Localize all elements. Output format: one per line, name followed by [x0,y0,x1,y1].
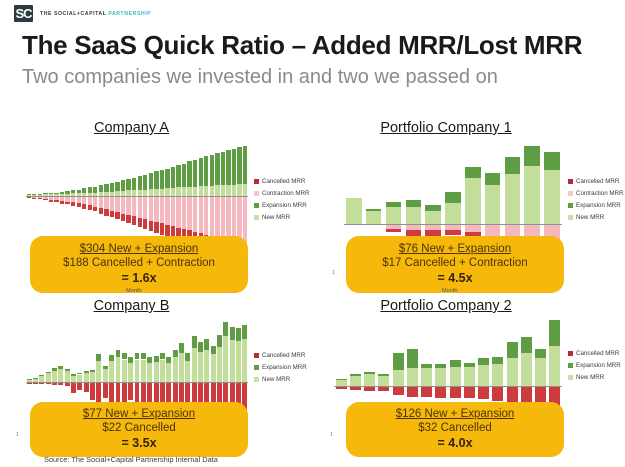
bar-segment [116,382,121,402]
callout-line-1: $77 New + Expansion [83,407,195,421]
bar-segment [43,193,47,194]
legend-item-contraction: Contraction MRR [254,190,309,197]
legend-label-new: New MRR [262,214,290,221]
legend-label-new: New MRR [262,376,290,383]
bar-segment [33,378,38,379]
bar-segment [199,186,203,196]
bar-segment [65,191,69,194]
bar-segment [544,152,559,169]
bar-segment [185,353,190,361]
callout-ratio: = 4.5x [437,270,472,286]
bar-segment [84,371,89,373]
bar-segment [93,207,97,212]
bar-segment [141,360,146,383]
bar-segment [71,202,75,206]
bar-segment [524,146,539,166]
bar-segment [77,190,81,194]
bar-segment [54,193,58,195]
bar-segment [160,170,164,188]
bar-segment [187,187,191,196]
bar-segment [104,196,108,209]
bar-segment [121,196,125,214]
bar-segment [435,386,446,398]
bar-segment [445,203,460,224]
bar-segment [198,352,203,382]
legend-swatch-contraction-icon [568,191,573,196]
chart-title: Portfolio Company 1 [330,120,562,136]
bar-segment [165,225,169,237]
bar-segment [160,223,164,234]
bar-segment [173,357,178,382]
bar-segment [99,185,103,192]
callout-box: $77 New + Expansion $22 Cancelled = 3.5x [30,402,248,457]
legend-label-cancelled: Cancelled MRR [262,352,305,359]
bar-segment [109,355,114,360]
bar-segment [103,382,108,398]
x-axis-line [26,196,248,197]
legend-label-expansion: Expansion MRR [262,364,307,371]
bar-segment [65,369,70,371]
bar-segment [93,187,97,193]
legend-label-cancelled: Cancelled MRR [576,178,619,185]
bar-segment [243,146,247,184]
chart-legend: Cancelled MRR Expansion MRR New MRR [568,350,621,381]
bar-segment [149,173,153,189]
bar-segment [204,350,209,382]
callout-ratio: = 1.6x [121,270,156,286]
bar-segment [393,370,404,387]
bar-segment [217,335,222,347]
bar-segment [160,189,164,196]
bar-segment [135,360,140,383]
bar-segment [350,374,361,376]
bar-segment [128,357,133,362]
bar-segment [126,215,130,223]
bar-segment [204,339,209,350]
bar-segment [149,189,153,196]
bar-segment [223,336,228,382]
bar-segment [485,185,500,224]
bar-segment [147,382,152,403]
bar-segment [147,357,152,362]
bar-segment [71,382,76,393]
bar-segment [90,370,95,372]
legend-swatch-expansion-icon [254,365,259,370]
bar-segment [193,187,197,196]
legend-swatch-new-icon [568,375,573,380]
bar-segment [160,360,165,383]
bar-segment [122,360,127,383]
legend-item-expansion: Expansion MRR [568,202,623,209]
bar-segment [138,176,142,190]
bar-segment [204,196,208,235]
bar-segment [230,327,235,340]
bar-segment [179,353,184,382]
bar-segment [103,369,108,382]
bar-segment [88,205,92,210]
legend-label-new: New MRR [576,214,604,221]
chart-legend: Cancelled MRR Expansion MRR New MRR [254,352,307,383]
bar-segment [77,203,81,207]
chart-legend: Cancelled MRR Contraction MRR Expansion … [568,178,623,221]
legend-item-cancelled: Cancelled MRR [254,178,309,185]
bar-segment [65,202,69,205]
bar-segment [232,185,236,196]
bar-segment [60,192,64,194]
bar-segment [236,341,241,382]
y-axis-tick: 1 [330,432,333,438]
bar-segment [96,361,101,382]
bar-segment [52,371,57,382]
bar-segment [71,374,76,376]
legend-swatch-new-icon [568,215,573,220]
bar-segment [242,339,247,382]
bar-segment [215,185,219,196]
bar-segment [77,373,82,375]
legend-swatch-expansion-icon [568,363,573,368]
bar-segment [198,342,203,352]
chart-panel-portfolio-company-2: Portfolio Company 2 Cancelled MRR Expans… [330,298,625,458]
bar-segment [406,200,421,208]
bar-segment [478,386,489,399]
bar-segment [65,371,70,382]
bar-segment [243,196,247,244]
bar-segment [445,230,460,235]
bar-segment [104,209,108,215]
legend-label-contraction: Contraction MRR [576,190,623,197]
bar-segment [492,386,503,401]
bar-segment [27,197,31,198]
bar-segment [199,158,203,186]
bar-segment [96,382,101,402]
callout-box: $126 New + Expansion $32 Cancelled = 4.0… [346,402,564,457]
bar-segment [464,367,475,387]
bar-segment [507,386,518,402]
bar-segment [132,178,136,190]
bar-segment [192,382,197,402]
bar-segment [121,214,125,222]
bar-segment [221,196,225,239]
bar-segment [176,165,180,188]
bar-segment [478,358,489,366]
callout-line-1: $126 New + Expansion [396,407,515,421]
bar-segment [32,198,36,199]
bar-segment [82,188,86,193]
brand-logo: SC THE SOCIAL+CAPITAL PARTNERSHIP [14,5,151,22]
bar-segment [132,216,136,224]
bar-segment [77,382,82,390]
bar-segment [450,386,461,398]
bar-segment [445,192,460,203]
bar-segment [237,184,241,196]
bar-column [334,318,348,420]
bar-segment [90,382,95,400]
legend-label-cancelled: Cancelled MRR [576,350,619,357]
logo-wordmark-dark: THE SOCIAL+CAPITAL [40,11,106,17]
bar-segment [149,196,153,221]
legend-label-expansion: Expansion MRR [576,202,621,209]
x-axis-line [334,386,562,387]
bar-segment [147,363,152,382]
bar-segment [204,156,208,186]
bar-segment [421,386,432,397]
bar-segment [104,184,108,192]
bar-segment [171,167,175,188]
chart-title: Company A [14,120,249,136]
bar-segment [185,361,190,382]
legend-swatch-contraction-icon [254,191,259,196]
bar-segment [49,200,53,202]
bar-segment [346,198,361,224]
legend-label-cancelled: Cancelled MRR [262,178,305,185]
bar-segment [366,211,381,224]
bar-segment [507,358,518,387]
bar-segment [27,379,32,380]
bar-segment [393,353,404,370]
bar-segment [193,160,197,187]
bar-segment [88,187,92,193]
bar-segment [54,200,58,202]
bar-segment [232,149,236,185]
bar-segment [160,353,165,359]
bar-segment [524,166,539,225]
bar-segment [176,196,180,228]
bar-segment [179,343,184,353]
bar-segment [505,157,520,174]
bar-segment [210,155,214,186]
bar-segment [192,348,197,382]
page-subtitle: Two companies we invested in and two we … [22,66,498,89]
bar-segment [176,187,180,196]
bar-segment [132,196,136,216]
bar-segment [90,372,95,382]
bar-segment [211,346,216,355]
callout-ratio: = 3.5x [121,435,156,451]
bar-segment [154,196,158,222]
legend-label-new: New MRR [576,374,604,381]
bar-segment [450,360,461,367]
bar-segment [135,353,140,359]
bar-segment [425,211,440,224]
bar-segment [464,363,475,367]
bar-segment [38,198,42,199]
bar-segment [485,173,500,185]
bar-segment [46,373,51,382]
bar-segment [182,164,186,188]
bar-segment [84,373,89,382]
bar-segment [126,196,130,215]
bar-segment [165,169,169,189]
bar-segment [393,386,404,395]
bar-segment [407,386,418,397]
x-axis-label: Month [126,288,142,294]
x-axis-label: Month [442,288,458,294]
bar-segment [141,382,146,402]
bar-segment [143,219,147,229]
bar-segment [115,182,119,191]
bar-segment [88,196,92,205]
bar-segment [364,374,375,386]
bar-segment [58,366,63,369]
legend-label-expansion: Expansion MRR [576,362,621,369]
callout-line-1: $76 New + Expansion [399,242,511,256]
bar-segment [154,222,158,233]
bar-segment [165,188,169,196]
legend-item-new: New MRR [254,376,307,383]
bar-segment [350,376,361,387]
bar-segment [187,161,191,187]
bar-segment [143,175,147,190]
bar-segment [221,185,225,196]
legend-swatch-cancelled-icon [568,179,573,184]
bar-segment [122,353,127,359]
bar-segment [478,365,489,386]
bar-segment [232,196,236,241]
bar-segment [96,354,101,360]
chart-title: Company B [14,298,249,314]
bar-segment [93,196,97,207]
bar-segment [364,372,375,374]
bar-segment [99,196,103,208]
bar-segment [60,201,64,204]
bar-segment [521,337,532,354]
legend-label-contraction: Contraction MRR [262,190,309,197]
bar-segment [122,382,127,403]
bar-segment [43,199,47,200]
logo-wordmark-accent: PARTNERSHIP [108,11,151,17]
bar-segment [154,362,159,382]
bar-segment [154,171,158,189]
bar-segment [386,207,401,224]
bar-segment [492,364,503,387]
bar-segment [378,376,389,387]
bar-segment [141,353,146,359]
bar-segment [165,196,169,225]
chart-panel-company-b: Company B Cancelled MRR Expansion MRR Ne… [14,298,314,458]
bar-segment [544,170,559,224]
bar-segment [166,357,171,362]
bar-segment [549,320,560,346]
bar-segment [226,150,230,185]
legend-item-cancelled: Cancelled MRR [254,352,307,359]
bar-segment [121,180,125,191]
bar-segment [77,375,82,383]
callout-box: $76 New + Expansion $17 Cancelled + Cont… [346,236,564,293]
bar-segment [138,218,142,227]
bar-segment [521,353,532,386]
legend-swatch-cancelled-icon [254,179,259,184]
bar-segment [103,366,108,369]
bar-segment [38,194,42,195]
chart-panel-company-a: Company A Cancelled MRR Contraction MRR … [14,120,314,295]
bar-segment [166,363,171,382]
bar-segment [110,196,114,211]
bar-segment [32,194,36,195]
bar-segment [210,196,214,236]
bar-segment [171,196,175,226]
legend-item-cancelled: Cancelled MRR [568,350,621,357]
bar-segment [378,374,389,376]
bar-segment [128,382,133,400]
x-axis-line [26,382,248,383]
legend-item-contraction: Contraction MRR [568,190,623,197]
legend-swatch-expansion-icon [254,203,259,208]
bar-segment [366,209,381,211]
bar-segment [505,174,520,224]
legend-item-expansion: Expansion MRR [568,362,621,369]
bar-segment [115,196,119,212]
bar-segment [49,193,53,194]
bar-segment [465,178,480,224]
bar-segment [99,208,103,214]
bar-segment [154,356,159,361]
y-axis-tick: 1 [332,270,335,276]
bar-segment [160,196,164,223]
legend-item-expansion: Expansion MRR [254,202,309,209]
source-note: Source: The Social+Capital Partnership I… [44,455,218,464]
bar-segment [425,205,440,212]
bar-segment [39,375,44,376]
x-axis-line [344,224,562,225]
bar-segment [58,369,63,382]
bar-segment [126,179,130,191]
bar-segment [230,340,235,382]
bar-segment [149,221,153,232]
bar-segment [507,342,518,358]
bar-segment [115,212,119,219]
bar-segment [237,147,241,185]
bar-segment [386,229,401,232]
bar-segment [204,186,208,196]
bar-segment [421,368,432,386]
bar-segment [242,325,247,339]
bar-segment [223,322,228,336]
bar-segment [182,187,186,196]
bar-segment [27,194,31,195]
bar-segment [221,152,225,186]
bar-segment [109,382,114,403]
page-title: The SaaS Quick Ratio – Added MRR/Lost MR… [22,30,582,61]
bar-segment [193,196,197,232]
bar-segment [450,367,461,387]
bar-segment [52,368,57,371]
bar-segment [407,349,418,369]
logo-mark-icon: SC [14,5,33,22]
bar-segment [187,196,191,230]
bar-segment [109,361,114,382]
legend-item-new: New MRR [568,374,621,381]
bar-segment [143,196,147,219]
bar-segment [116,357,121,382]
bar-segment [182,196,186,229]
bar-segment [46,372,51,373]
callout-line-2: $22 Cancelled [102,421,176,435]
bar-segment [116,350,121,358]
bar-segment [336,379,347,380]
bar-segment [82,196,86,204]
legend-swatch-new-icon [254,215,259,220]
bar-segment [226,185,230,196]
bar-segment [549,346,560,387]
bar-segment [236,328,241,341]
bar-segment [226,196,230,240]
chart-title: Portfolio Company 2 [330,298,562,314]
bar-segment [492,357,503,364]
legend-label-expansion: Expansion MRR [262,202,307,209]
chart-panel-portfolio-company-1: Portfolio Company 1 Cancelled MRR Contra… [330,120,625,295]
bar-segment [215,196,219,237]
bar-segment [128,363,133,382]
